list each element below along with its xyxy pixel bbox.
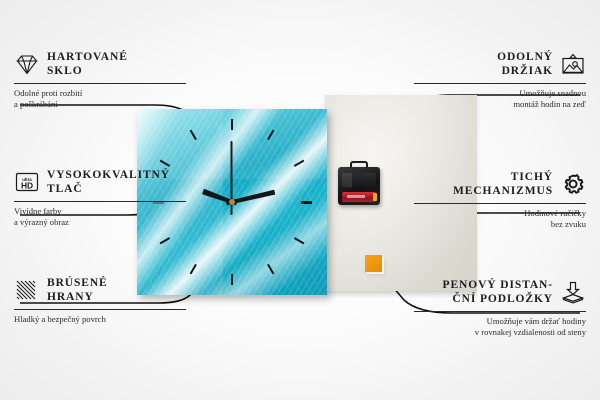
feature-title-line-1: VYSOKOKVALITNÝ bbox=[47, 168, 170, 182]
divider bbox=[414, 203, 586, 204]
feature-desc-line-1: Vivídne farby bbox=[14, 206, 186, 217]
feature-ground-edges: BRÚSENÉ HRANY Hladký a bezpečný povrch bbox=[14, 276, 186, 325]
divider bbox=[14, 309, 186, 310]
feature-title-line-1: ODOLNÝ bbox=[497, 50, 553, 64]
feature-durable-holder: ODOLNÝ DRŽIAK Umožňuje snadnou montáž ho… bbox=[414, 50, 586, 110]
feature-title-line-1: PENOVÝ DISTAN- bbox=[443, 278, 553, 292]
divider bbox=[414, 311, 586, 312]
feature-desc-line-2: a výrazný obraz bbox=[14, 217, 186, 228]
feature-title-line-1: HARTOVANÉ bbox=[47, 50, 128, 64]
feature-title-line-2: TLAČ bbox=[47, 182, 170, 196]
picture-hanger-icon bbox=[560, 52, 586, 76]
clock-center-cap bbox=[229, 199, 235, 205]
feature-high-quality-print: ultra HD VYSOKOKVALITNÝ TLAČ Vivídne far… bbox=[14, 168, 186, 228]
feature-title-line-2: MECHANIZMUS bbox=[453, 184, 553, 198]
feature-title-line-2: HRANY bbox=[47, 290, 108, 304]
feature-title-line-2: SKLO bbox=[47, 64, 128, 78]
feature-desc-line-1: Odolné proti rozbití bbox=[14, 88, 186, 99]
feature-desc-line-2: montáž hodin na zeď bbox=[414, 99, 586, 110]
diamond-icon bbox=[14, 52, 40, 76]
divider bbox=[14, 201, 186, 202]
feature-tempered-glass: HARTOVANÉ SKLO Odolné proti rozbití a po… bbox=[14, 50, 186, 110]
ultra-hd-icon: ultra HD bbox=[14, 170, 40, 194]
feature-title-line-2: ČNÍ PODLOŽKY bbox=[452, 292, 553, 306]
feature-desc-line-2: bez zvuku bbox=[414, 219, 586, 230]
hatched-edge-icon bbox=[14, 278, 40, 302]
divider bbox=[414, 83, 586, 84]
divider bbox=[14, 83, 186, 84]
foam-distance-pad bbox=[365, 255, 382, 272]
feature-title-line-2: DRŽIAK bbox=[502, 64, 553, 78]
feature-desc-line-2: a poškrábání bbox=[14, 99, 186, 110]
svg-text:HD: HD bbox=[21, 181, 33, 191]
clock-mechanism bbox=[338, 167, 380, 205]
press-down-pad-icon bbox=[560, 280, 586, 304]
aa-battery bbox=[342, 192, 376, 202]
feature-desc-line-1: Hladký a bezpečný povrch bbox=[14, 314, 186, 325]
gear-icon bbox=[560, 172, 586, 196]
feature-title-line-1: TICHÝ bbox=[511, 170, 553, 184]
feature-desc-line-1: Umožňuje snadnou bbox=[414, 88, 586, 99]
feature-foam-distance-pads: PENOVÝ DISTAN- ČNÍ PODLOŽKY Umožňuje vám… bbox=[414, 278, 586, 338]
mechanism-detail bbox=[342, 173, 376, 187]
feature-desc-line-1: Hodinové ručičky bbox=[414, 208, 586, 219]
feature-silent-mechanism: TICHÝ MECHANIZMUS Hodinové ručičky bez z… bbox=[414, 170, 586, 230]
feature-desc-line-2: v rovnakej vzdialenosti od steny bbox=[414, 327, 586, 338]
feature-desc-line-1: Umožňuje vám držať hodiny bbox=[414, 316, 586, 327]
feature-title-line-1: BRÚSENÉ bbox=[47, 276, 108, 290]
